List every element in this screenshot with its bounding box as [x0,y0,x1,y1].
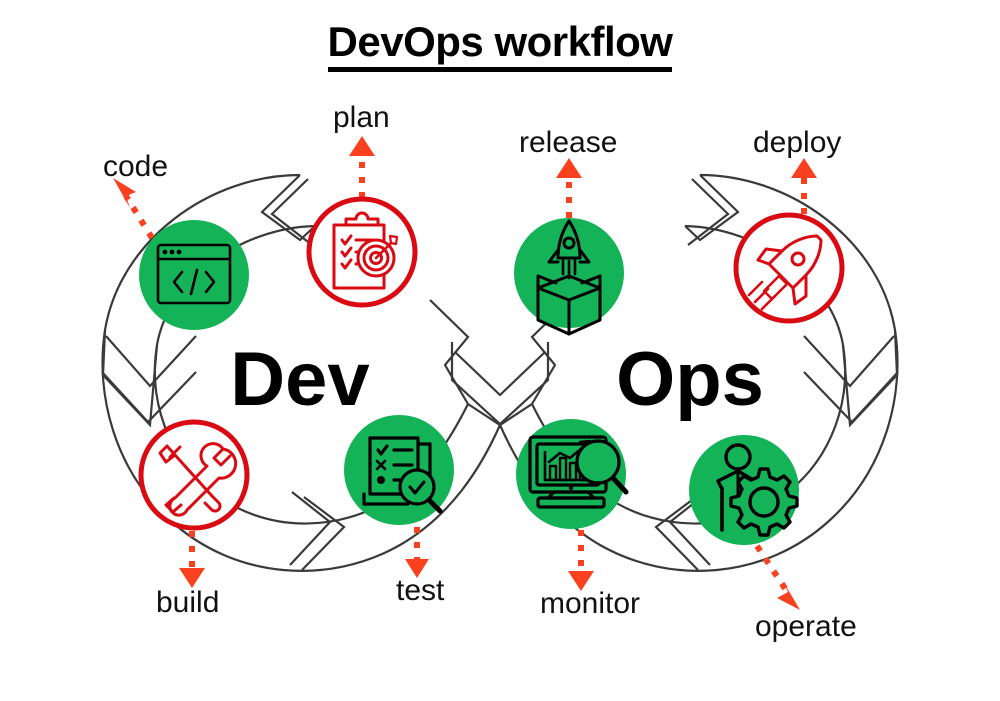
stage-label-monitor: monitor [540,587,640,621]
loop-right-chevron-mid2 [804,372,898,422]
operate-connector [757,546,790,596]
stage-label-release: release [519,126,617,160]
stage-label-deploy: deploy [753,126,841,160]
loop-center-chevron-d [455,352,545,395]
loop-left-chevron-top [262,175,315,240]
loop-right-chevron-mid3 [804,336,894,386]
stage-monitor[interactable] [516,419,626,529]
loop-center-box [452,342,548,424]
loop-right-chevron-mid [843,330,897,425]
loop-left-chevron-mid [103,330,157,425]
stage-deploy[interactable] [736,215,842,321]
loop-left-chevron-bottom2 [302,497,344,570]
stage-test[interactable] [344,415,454,525]
loop-center-chevron-a [468,404,532,425]
stage-label-build: build [156,586,219,620]
build-arrowhead [179,568,205,588]
loop-word-dev: Dev [230,337,369,422]
release-arrowhead [556,158,582,178]
loop-left-chevron-bottom [290,492,330,565]
devops-infinity-diagram: Dev Ops [0,0,1000,701]
stage-build[interactable] [141,422,247,528]
stage-plan[interactable] [309,199,415,305]
stage-code-circle[interactable] [139,220,249,330]
loop-left-chevron-mid3 [106,336,196,386]
plan-arrowhead [349,136,375,156]
stage-label-operate: operate [755,610,857,644]
loop-word-ops: Ops [616,337,764,422]
code-connector [126,196,152,238]
stage-code[interactable] [139,220,249,330]
loop-right-chevron-top [685,175,738,240]
stage-label-plan: plan [333,101,390,135]
loop-right-chevron-bottom2 [656,497,698,570]
stage-operate[interactable] [689,435,799,545]
stage-deploy-circle[interactable] [736,215,842,321]
stage-label-test: test [396,574,444,608]
deploy-arrowhead [791,158,817,178]
stage-label-code: code [103,150,168,184]
loop-left-chevron-mid2 [102,372,196,422]
stage-release[interactable] [514,218,624,334]
